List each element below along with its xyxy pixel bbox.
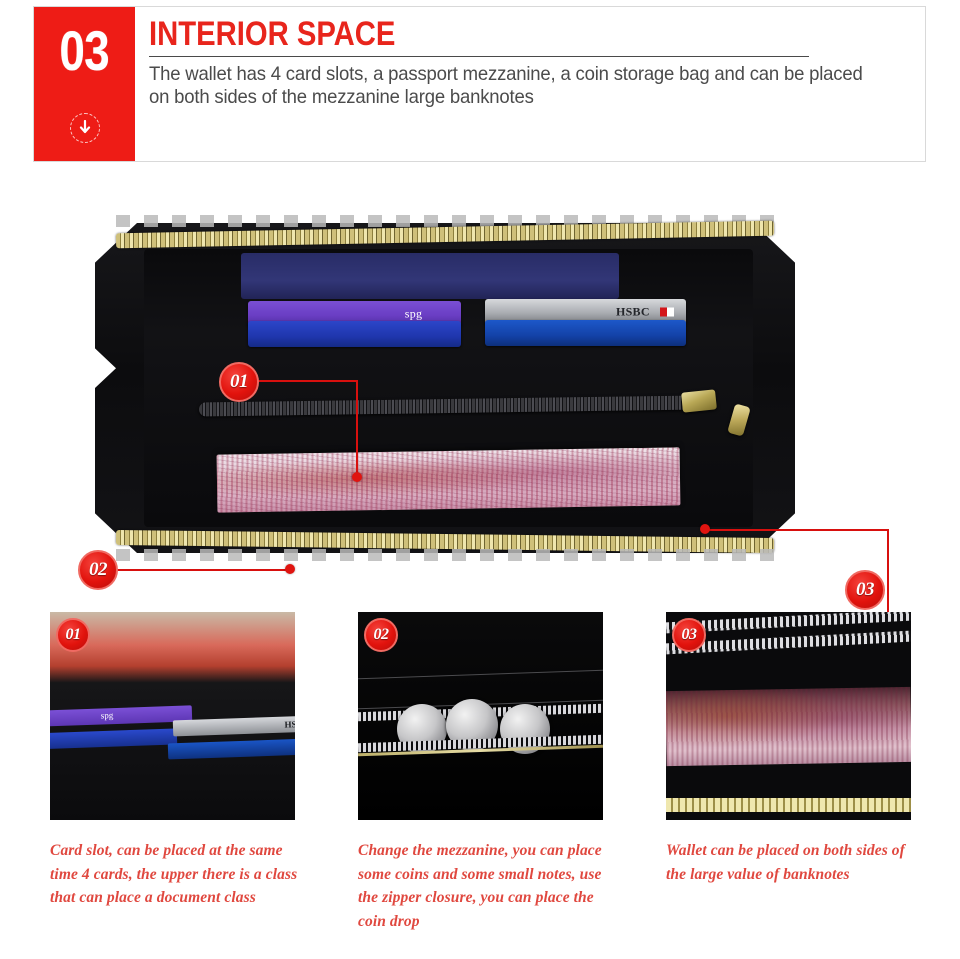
detail-panel-02: 02 [358,612,603,820]
passport-mezzanine [241,253,619,299]
card-brand-label: HSBC [616,305,650,320]
detail-panels: spg HSBC 01 02 03 Card slot, can be plac… [0,596,960,959]
title-divider [149,56,809,57]
panel-caption-03: Wallet can be placed on both sides of th… [666,839,928,886]
zipper-tape-bottom [116,549,774,561]
section-number: 03 [60,23,109,79]
section-header: 03 INTERIOR SPACE The wallet has 4 card … [33,6,926,162]
card-slot-4 [485,320,686,346]
section-description: The wallet has 4 card slots, a passport … [149,63,866,111]
detail-panel-01: spg HSBC 01 [50,612,295,820]
hero-callout-badge-03: 03 [845,570,885,610]
detail-panel-03: 03 [666,612,911,820]
panel-badge-01: 01 [56,618,90,652]
hero-callout-dot-01 [352,472,362,482]
panel-badge-02: 02 [364,618,398,652]
hero-callout-badge-01: 01 [219,362,259,402]
header-body: INTERIOR SPACE The wallet has 4 card slo… [135,7,925,161]
wallet-illustration: spg HSBC [95,223,795,553]
hsbc-logo-icon [660,308,674,317]
arrow-down-icon [70,113,100,143]
hero-callout-line-01-h [258,380,358,382]
panel-01-card-brand: spg [101,710,114,720]
coin-pocket-zipper [199,396,699,417]
hero-callout-dot-02 [285,564,295,574]
zipper-slider-icon [682,389,718,412]
hero-callout-line-03-top [706,529,889,531]
hero-product-photo: spg HSBC 01 02 03 [0,175,960,585]
panel-01-card-brand-2: HSBC [284,719,295,730]
banknotes-stack [217,447,681,512]
card-brand-label: spg [405,307,423,322]
hero-callout-dot-03-top [700,524,710,534]
hero-callout-line-01-v [356,380,358,477]
panel-caption-01: Card slot, can be placed at the same tim… [50,839,312,910]
zipper-pull-icon [727,403,751,436]
page-title: INTERIOR SPACE [149,17,808,52]
section-number-box: 03 [34,7,135,161]
panel-caption-02: Change the mezzanine, you can place some… [358,839,620,933]
panel-badge-03: 03 [672,618,706,652]
hero-callout-line-02-h [117,569,290,571]
card-slot-2 [248,321,461,347]
hero-callout-badge-02: 02 [78,550,118,590]
panel-03-banknotes [666,687,911,766]
panel-03-gold-zipper [666,798,911,812]
